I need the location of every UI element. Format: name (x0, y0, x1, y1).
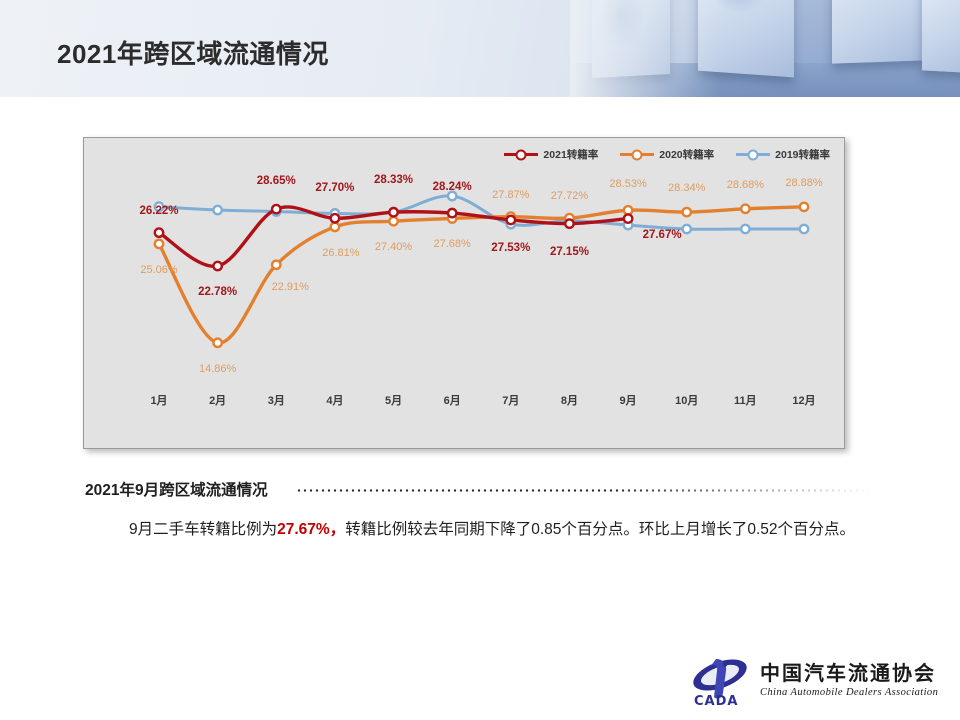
cada-abbr: CADA (694, 694, 738, 709)
x-axis-label-6月: 6月 (444, 392, 461, 408)
cada-logo: CADA 中国汽车流通协会 China Automobile Dealers A… (690, 650, 948, 712)
paragraph-highlight-value: 27.67%， (277, 521, 345, 538)
data-label-2021转籍率-7月: 27.53% (491, 242, 530, 254)
x-axis-label-8月: 8月 (561, 392, 578, 408)
cada-name-cn: 中国汽车流通协会 (760, 664, 938, 685)
data-label-2021转籍率-3月: 28.65% (257, 175, 296, 187)
data-label-2020转籍率-7月: 27.87% (492, 189, 529, 201)
paragraph-post: 转籍比例较去年同期下降了0.85个百分点。环比上月增长了0.52个百分点。 (345, 521, 855, 538)
data-label-2021转籍率-9月: 27.67% (643, 229, 682, 241)
data-label-2021转籍率-8月: 27.15% (550, 246, 589, 258)
cada-wordmark: 中国汽车流通协会 China Automobile Dealers Associ… (760, 664, 938, 698)
x-axis-label-12月: 12月 (792, 392, 815, 408)
data-label-2020转籍率-12月: 28.88% (785, 177, 822, 189)
data-point-marker[interactable] (272, 261, 280, 269)
data-point-marker[interactable] (331, 214, 339, 222)
data-point-marker[interactable] (389, 208, 397, 216)
data-label-2021转籍率-4月: 27.70% (315, 182, 354, 194)
x-axis-label-10月: 10月 (675, 392, 698, 408)
decorative-cube-icon (922, 0, 960, 74)
data-label-2020转籍率-1月: 25.06% (140, 264, 177, 276)
header-image-fade (570, 0, 720, 97)
data-label-2020转籍率-2月: 14.86% (199, 363, 236, 375)
cada-emblem-icon: CADA (690, 653, 752, 709)
data-point-marker[interactable] (331, 223, 339, 231)
data-label-2020转籍率-6月: 27.68% (434, 238, 471, 250)
chart-x-axis: 1月2月3月4月5月6月7月8月9月10月11月12月 (84, 392, 844, 410)
data-label-2020转籍率-11月: 28.68% (727, 179, 764, 191)
x-axis-label-1月: 1月 (150, 392, 167, 408)
data-point-marker[interactable] (507, 216, 515, 224)
data-label-2021转籍率-5月: 28.33% (374, 174, 413, 186)
data-label-2021转籍率-2月: 22.78% (198, 286, 237, 298)
paragraph-pre: 9月二手车转籍比例为 (129, 521, 277, 538)
x-axis-label-5月: 5月 (385, 392, 402, 408)
data-point-marker[interactable] (272, 205, 280, 213)
data-point-marker[interactable] (741, 205, 749, 213)
x-axis-label-11月: 11月 (734, 392, 757, 408)
data-label-2020转籍率-9月: 28.53% (609, 178, 646, 190)
data-point-marker[interactable] (213, 339, 221, 347)
section-title: 2021年9月跨区域流通情况 (85, 478, 268, 500)
slide-header: 2021年跨区域流通情况 (0, 0, 960, 97)
x-axis-label-3月: 3月 (268, 392, 285, 408)
data-label-2020转籍率-4月: 26.81% (322, 247, 359, 259)
data-point-marker[interactable] (155, 240, 163, 248)
x-axis-label-2月: 2月 (209, 392, 226, 408)
data-label-2021转籍率-1月: 26.22% (139, 205, 178, 217)
section-heading-row: 2021年9月跨区域流通情况 (85, 478, 875, 500)
data-label-2020转籍率-5月: 27.40% (375, 241, 412, 253)
data-label-2021转籍率-6月: 28.24% (433, 181, 472, 193)
dotted-divider (296, 488, 875, 493)
data-point-marker[interactable] (155, 228, 163, 236)
data-point-marker[interactable] (213, 206, 221, 214)
data-point-marker[interactable] (389, 217, 397, 225)
x-axis-label-7月: 7月 (502, 392, 519, 408)
slide: 2021年跨区域流通情况 2021转籍率2020转籍率2019转籍率 26.22… (0, 0, 960, 720)
cada-name-en: China Automobile Dealers Association (760, 687, 938, 698)
data-label-2020转籍率-8月: 27.72% (551, 190, 588, 202)
page-title: 2021年跨区域流通情况 (57, 34, 329, 71)
x-axis-label-9月: 9月 (620, 392, 637, 408)
data-point-marker[interactable] (800, 203, 808, 211)
data-label-2020转籍率-3月: 22.91% (272, 281, 309, 293)
data-point-marker[interactable] (448, 209, 456, 217)
data-point-marker[interactable] (800, 225, 808, 233)
data-point-marker[interactable] (624, 214, 632, 222)
data-point-marker[interactable] (565, 219, 573, 227)
data-point-marker[interactable] (683, 208, 691, 216)
data-point-marker[interactable] (213, 262, 221, 270)
section-paragraph: 9月二手车转籍比例为27.67%，转籍比例较去年同期下降了0.85个百分点。环比… (85, 515, 885, 545)
decorative-cube-icon (832, 0, 924, 64)
header-decorative-image (570, 0, 960, 97)
x-axis-label-4月: 4月 (326, 392, 343, 408)
data-point-marker[interactable] (741, 225, 749, 233)
data-point-marker[interactable] (683, 225, 691, 233)
data-label-2020转籍率-10月: 28.34% (668, 182, 705, 194)
chart-panel: 2021转籍率2020转籍率2019转籍率 26.22%22.78%28.65%… (83, 137, 845, 449)
